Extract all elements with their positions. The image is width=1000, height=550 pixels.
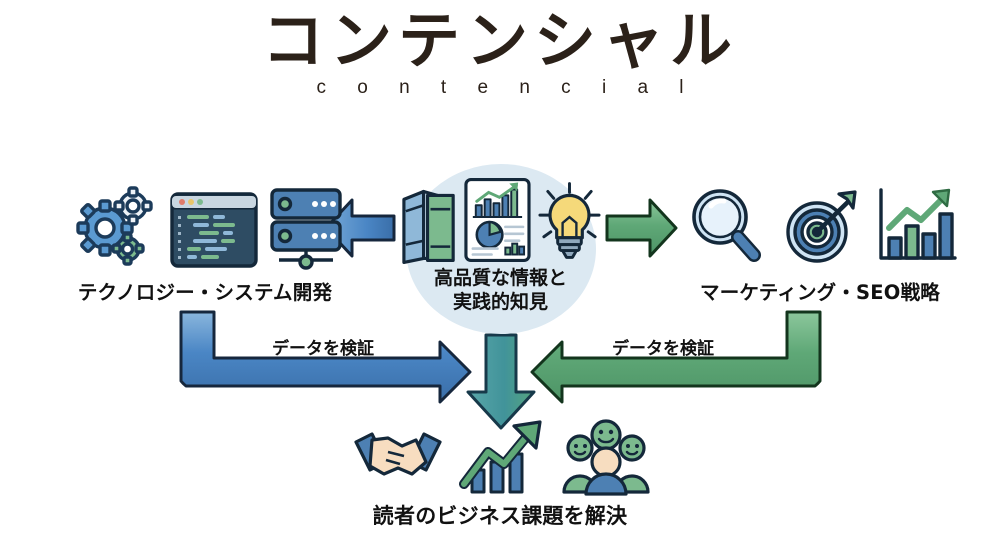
magnifier-icon xyxy=(681,184,769,270)
node-core-value[interactable]: 高品質な情報と 実践的知見 xyxy=(398,162,603,337)
node-core-label: 高品質な情報と 実践的知見 xyxy=(398,267,603,315)
growth-arrow-chart-icon xyxy=(458,418,550,496)
right-feedback-label: データを検証 xyxy=(612,334,714,359)
node-reader-solution[interactable]: 読者のビジネス課題を解決 xyxy=(330,418,670,530)
node-reader-icons xyxy=(330,418,670,496)
growth-bar-chart-icon xyxy=(873,184,959,270)
node-core-icons xyxy=(398,162,603,265)
books-icon xyxy=(398,181,459,265)
node-marketing-label: マーケティング・SEO戦略 xyxy=(660,276,980,305)
data-report-icon xyxy=(462,175,533,265)
node-core-label-line1: 高品質な情報と xyxy=(398,267,603,291)
node-core-label-line2: 実践的知見 xyxy=(398,291,603,315)
node-technology-icons xyxy=(35,178,375,270)
code-window-icon xyxy=(169,190,259,270)
people-group-icon xyxy=(560,418,652,496)
node-reader-label: 読者のビジネス課題を解決 xyxy=(330,500,670,530)
server-rack-icon xyxy=(267,184,345,270)
diagram-canvas: コンテンシャル c o n t e n c i a l xyxy=(0,0,1000,550)
arrow-center-to-bottom xyxy=(468,335,534,428)
left-feedback-label: データを検証 xyxy=(272,334,374,359)
gears-icon xyxy=(65,182,161,270)
node-technology[interactable]: テクノロジー・システム開発 xyxy=(35,178,375,305)
node-marketing-icons xyxy=(660,178,980,270)
target-arrow-icon xyxy=(777,184,865,270)
lightbulb-icon xyxy=(536,177,603,265)
handshake-icon xyxy=(348,422,448,496)
node-marketing[interactable]: マーケティング・SEO戦略 xyxy=(660,178,980,305)
node-technology-label: テクノロジー・システム開発 xyxy=(35,276,375,305)
